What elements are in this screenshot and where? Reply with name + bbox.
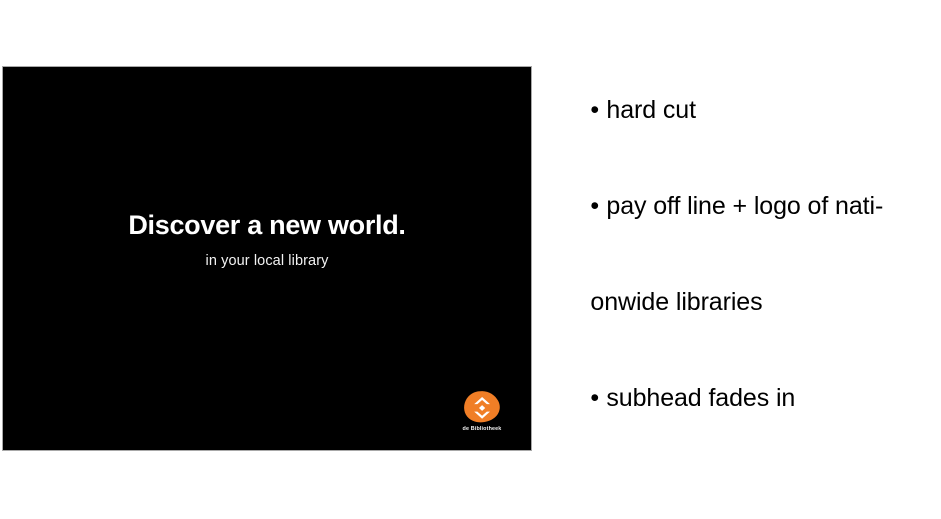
logo-lockup: de Bibliotheek <box>452 390 512 432</box>
storyboard-video-frame: Discover a new world. in your local libr… <box>2 66 532 451</box>
note-line: •pay off line + logo of nati- <box>563 158 923 254</box>
note-text: hard cut <box>606 96 696 124</box>
bullet-icon: • <box>590 382 606 414</box>
slide-copy-block: Discover a new world. in your local libr… <box>3 211 531 270</box>
note-line: •hard cut <box>563 62 923 158</box>
note-line-continuation: onwide libraries <box>563 254 923 350</box>
note-text: pay off line + logo of nati- <box>606 192 883 220</box>
note-text: subhead fades in <box>606 384 795 412</box>
slide-headline: Discover a new world. <box>3 211 531 241</box>
bullet-icon: • <box>590 94 606 126</box>
de-bibliotheek-logo-icon <box>463 390 501 424</box>
note-line: •subhead fades in <box>563 350 923 446</box>
storyboard-notes-list: •hard cut •pay off line + logo of nati- … <box>563 62 923 446</box>
slide-subhead: in your local library <box>3 253 531 270</box>
logo-wordmark: de Bibliotheek <box>452 427 512 432</box>
bullet-icon: • <box>590 190 606 222</box>
note-text: onwide libraries <box>590 288 762 316</box>
